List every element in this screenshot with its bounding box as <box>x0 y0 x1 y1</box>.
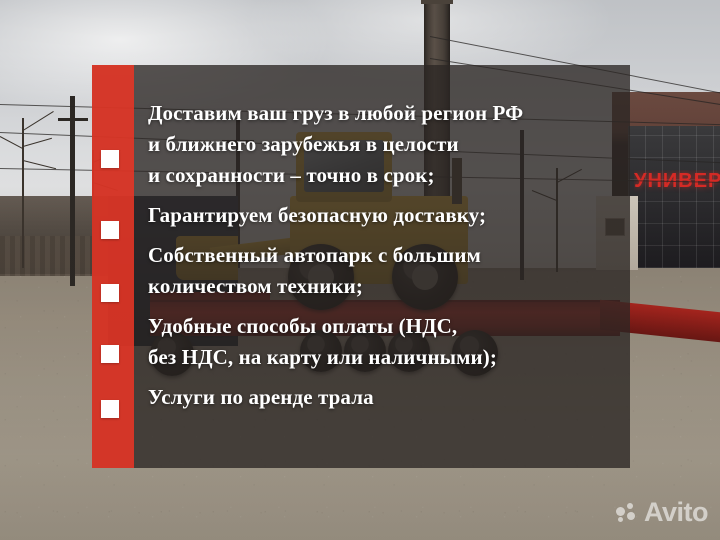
benefit-4-line-2: без НДС, на карту или наличными); <box>148 342 618 373</box>
benefit-1-line-2: и ближнего зарубежья в целости <box>148 129 618 160</box>
avito-logo-icon <box>616 503 638 523</box>
bullet-marker-5 <box>101 400 119 418</box>
list-gap <box>148 191 618 200</box>
benefit-4-line-1: Удобные способы оплаты (НДС, <box>148 311 618 342</box>
bullet-marker-4 <box>101 345 119 363</box>
utility-pole-left <box>70 96 75 286</box>
benefits-list: Доставим ваш груз в любой регион РФ и бл… <box>148 98 618 413</box>
benefit-5-line-1: Услуги по аренде трала <box>148 382 618 413</box>
benefit-1-line-1: Доставим ваш груз в любой регион РФ <box>148 98 618 129</box>
list-gap <box>148 231 618 240</box>
bare-tree <box>22 118 24 268</box>
banner-image: УНИВЕР <box>0 0 720 540</box>
utility-pole-crossarm <box>58 118 88 121</box>
benefit-3-line-1: Собственный автопарк с большим <box>148 240 618 271</box>
bullet-marker-3 <box>101 284 119 302</box>
bullet-marker-2 <box>101 221 119 239</box>
benefit-1-line-3: и сохранности – точно в срок; <box>148 160 618 191</box>
bullet-marker-1 <box>101 150 119 168</box>
benefit-2-line-1: Гарантируем безопасную доставку; <box>148 200 618 231</box>
avito-wordmark: Avito <box>644 499 708 526</box>
benefit-3-line-2: количеством техники; <box>148 271 618 302</box>
list-gap <box>148 373 618 382</box>
avito-watermark: Avito <box>616 499 708 526</box>
glass-facade <box>628 126 720 268</box>
list-gap <box>148 302 618 311</box>
